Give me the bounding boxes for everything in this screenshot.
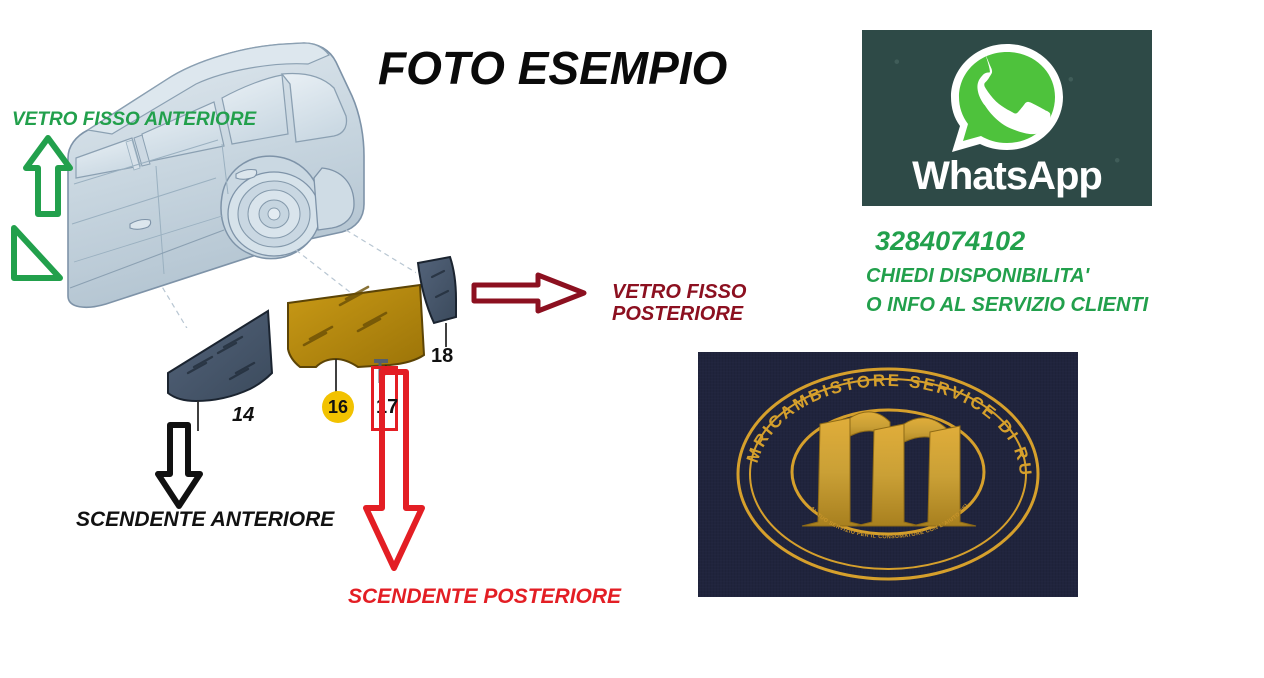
whatsapp-wordmark: WhatsApp (862, 154, 1152, 199)
page-title: FOTO ESEMPIO (378, 41, 727, 95)
triangle-outline-icon (8, 222, 66, 284)
part-number-18: 18 (431, 345, 453, 368)
label-rear-drop-glass: SCENDENTE POSTERIORE (348, 585, 621, 609)
poster-canvas: 14 16 17 18 FOTO ESEMPIO VETRO FISSO ANT… (0, 0, 1264, 678)
contact-phone-number[interactable]: 3284074102 (875, 226, 1025, 257)
label-rear-fixed-glass: VETRO FISSO POSTERIORE (612, 281, 746, 326)
whatsapp-banner: WhatsApp (862, 30, 1152, 206)
shop-logo-mark: MRICAMBISTORE SERVICE DI RUSSO MARCO AL … (698, 352, 1078, 597)
contact-line-1: CHIEDI DISPONIBILITA' (866, 265, 1089, 288)
label-rear-fixed-glass-line1: VETRO FISSO (612, 281, 746, 303)
arrow-down-outline-icon (152, 420, 206, 510)
arrow-down-long-outline-icon (360, 368, 428, 573)
label-rear-fixed-glass-line2: POSTERIORE (612, 303, 746, 325)
part-number-16: 16 (328, 397, 348, 418)
contact-line-2: O INFO AL SERVIZIO CLIENTI (866, 294, 1148, 317)
whatsapp-icon (944, 38, 1070, 158)
part-number-14: 14 (232, 404, 254, 427)
arrow-right-outline-icon (470, 271, 588, 315)
shop-logo-banner: MRICAMBISTORE SERVICE DI RUSSO MARCO AL … (698, 352, 1078, 597)
label-front-drop-glass: SCENDENTE ANTERIORE (76, 508, 334, 532)
label-front-fixed-glass: VETRO FISSO ANTERIORE (12, 109, 256, 131)
part-number-16-badge: 16 (322, 391, 354, 423)
arrow-up-outline-icon (22, 134, 74, 218)
